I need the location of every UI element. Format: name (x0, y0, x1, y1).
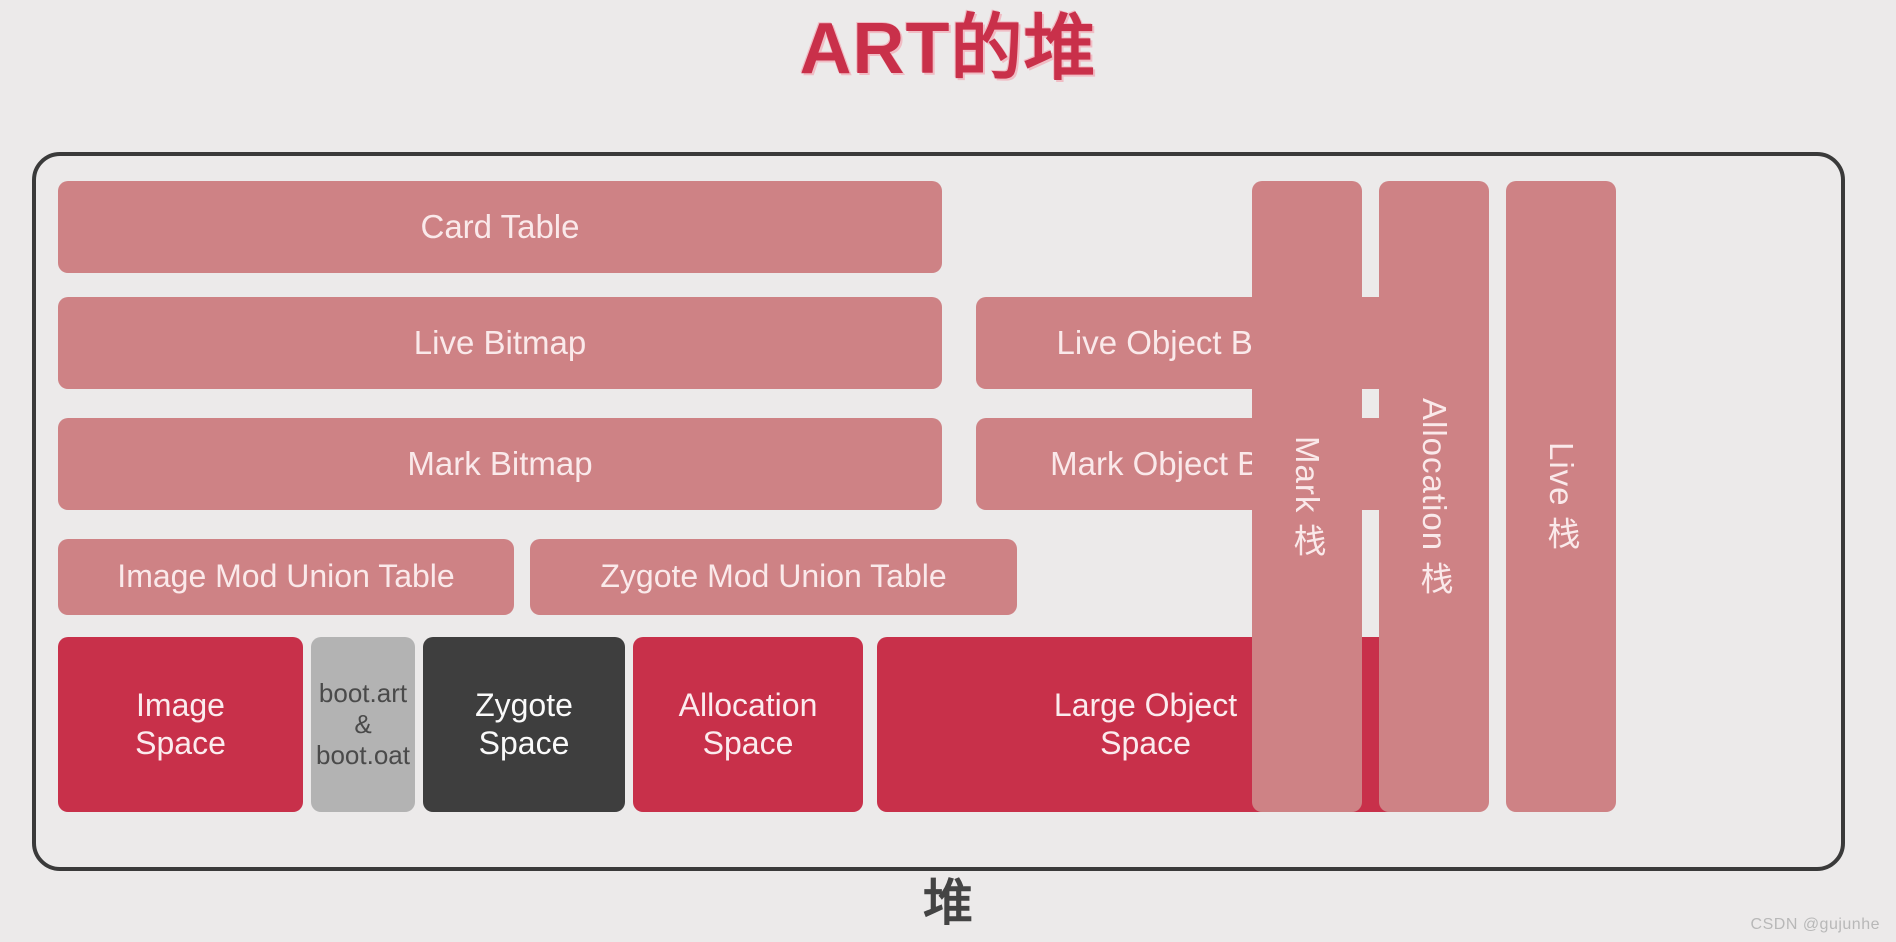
block-label: Large Object Space (1054, 687, 1237, 763)
heap-caption: 堆 (0, 878, 1896, 928)
block-label: Image Mod Union Table (117, 558, 454, 596)
block-label: Image Space (135, 687, 226, 763)
block-image-mod-union-table: Image Mod Union Table (58, 539, 514, 615)
block-live-stack: Live 栈 (1506, 181, 1616, 812)
block-label: Zygote Space (475, 687, 573, 763)
block-label: Live Bitmap (414, 324, 586, 363)
block-allocation-space: Allocation Space (633, 637, 863, 812)
block-allocation-stack: Allocation 栈 (1379, 181, 1489, 812)
block-mark-stack: Mark 栈 (1252, 181, 1362, 812)
block-label: Mark 栈 (1283, 436, 1331, 558)
block-live-bitmap: Live Bitmap (58, 297, 942, 389)
block-zygote-mod-union-table: Zygote Mod Union Table (530, 539, 1017, 615)
block-mark-bitmap: Mark Bitmap (58, 418, 942, 510)
page-title: ART的堆 (0, 8, 1896, 91)
block-label: Live 栈 (1537, 442, 1585, 551)
block-label: Allocation Space (679, 687, 818, 763)
block-zygote-space: Zygote Space (423, 637, 625, 812)
block-image-space: Image Space (58, 637, 303, 812)
block-label: Zygote Mod Union Table (600, 558, 946, 596)
block-label: boot.art & boot.oat (316, 678, 410, 770)
block-label: Card Table (421, 208, 580, 247)
block-boot-art-oat: boot.art & boot.oat (311, 637, 415, 812)
heap-container: Card Table Live Bitmap Live Object Bitma… (32, 152, 1845, 871)
csdn-watermark: CSDN @gujunhe (1751, 916, 1880, 934)
block-label: Allocation 栈 (1410, 398, 1458, 595)
block-card-table: Card Table (58, 181, 942, 273)
block-label: Mark Bitmap (407, 445, 592, 484)
